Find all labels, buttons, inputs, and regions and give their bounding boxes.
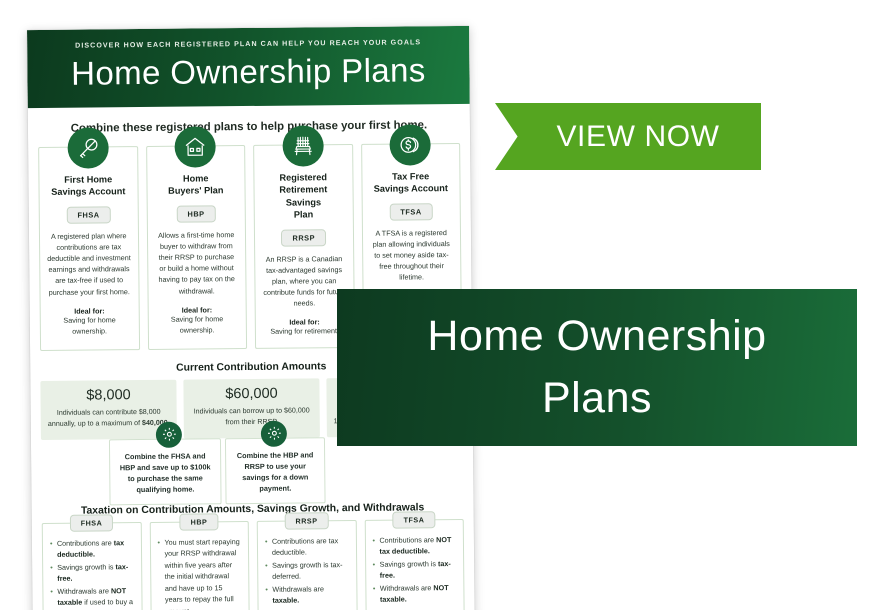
plan-description: A TFSA is a registered plan allowing ind… (369, 227, 453, 284)
plan-name: Registered Retirement Savings Plan (261, 171, 345, 221)
combine-tip-hbp-rrsp[interactable]: Combine the HBP and RRSP to use your sav… (225, 437, 326, 504)
plan-badge-fhsa: FHSA (66, 206, 110, 223)
tax-list-item: You must start repaying your RRSP withdr… (157, 536, 241, 610)
view-now-label: VIEW NOW (536, 120, 719, 154)
tax-list: Contributions are NOT tax deductible.Sav… (372, 534, 456, 606)
tax-list-item: Withdrawals are taxable. (265, 583, 349, 607)
plan-ideal-value: Saving for home ownership. (48, 315, 132, 337)
plan-badge-rrsp: RRSP (281, 229, 326, 246)
tax-list-item: Withdrawals are NOT taxable. (373, 582, 457, 606)
tax-card-hbp[interactable]: HBP You must start repaying your RRSP wi… (149, 521, 250, 610)
tax-card-fhsa[interactable]: FHSA Contributions are tax deductible.Sa… (42, 522, 143, 610)
plan-badge-hbp: HBP (176, 205, 215, 222)
tax-card-rrsp[interactable]: RRSP Contributions are tax deductible.Sa… (257, 520, 358, 610)
tax-card-tfsa[interactable]: TFSA Contributions are NOT tax deductibl… (364, 518, 465, 610)
tax-list-item: Savings growth is tax-free. (373, 558, 457, 582)
taxation-cards-row: FHSA Contributions are tax deductible.Sa… (32, 518, 475, 610)
plan-badge-tfsa: TFSA (389, 203, 432, 220)
amount-description: Individuals can contribute $8,000 annual… (47, 407, 171, 429)
combine-tip-fhsa-hbp[interactable]: Combine the FHSA and HBP and save up to … (109, 438, 222, 505)
overlay-title-panel: Home Ownership Plans (337, 289, 857, 446)
view-now-button[interactable]: VIEW NOW (495, 103, 761, 170)
tax-list-item: Savings growth is tax-free. (50, 561, 134, 585)
plan-ideal-value: Saving for retirement. (263, 327, 347, 339)
tax-list: You must start repaying your RRSP withdr… (157, 536, 242, 610)
house-icon (175, 126, 216, 167)
gear-icon (261, 420, 287, 446)
tax-badge-fhsa: FHSA (70, 514, 114, 531)
plan-description: An RRSP is a Canadian tax-advantaged sav… (262, 253, 346, 310)
amount-value: $8,000 (46, 387, 170, 404)
document-header: DISCOVER HOW EACH REGISTERED PLAN CAN HE… (27, 26, 470, 108)
tax-list-item: Withdrawals are NOT taxable if used to b… (50, 585, 134, 610)
plan-name: Tax Free Savings Account (369, 170, 453, 196)
amount-value: $60,000 (189, 386, 313, 403)
screenshot-stage: DISCOVER HOW EACH REGISTERED PLAN CAN HE… (0, 0, 893, 610)
tax-list: Contributions are tax deductible.Savings… (50, 537, 134, 610)
tax-badge-tfsa: TFSA (393, 511, 436, 528)
tax-badge-hbp: HBP (180, 513, 219, 530)
page-title: Home Ownership Plans (27, 47, 469, 96)
tax-list-item: Savings growth is tax-deferred. (265, 559, 349, 583)
plan-description: A registered plan where contributions ar… (47, 230, 131, 298)
dollar-coin-icon (390, 124, 431, 165)
plan-ideal-value: Saving for home ownership. (155, 314, 239, 336)
tax-list-item: Contributions are tax deductible. (50, 537, 134, 561)
tax-list-item: Contributions are tax deductible. (265, 535, 349, 559)
plan-card-hbp[interactable]: Home Buyers' Plan HBP Allows a first-tim… (146, 145, 247, 350)
tax-badge-rrsp: RRSP (284, 512, 328, 529)
tax-list-item: Contributions are NOT tax deductible. (372, 534, 456, 558)
key-icon (67, 127, 108, 168)
plan-name: First Home Savings Account (46, 173, 130, 199)
chair-icon (282, 125, 323, 166)
plan-description: Allows a first-time home buyer to withdr… (154, 229, 238, 297)
overlay-title: Home Ownership Plans (427, 306, 766, 428)
gear-icon (156, 421, 182, 447)
tax-list: Contributions are tax deductible.Savings… (265, 535, 349, 607)
amount-description: Individuals can borrow up to $60,000 fro… (190, 406, 314, 428)
plan-name: Home Buyers' Plan (154, 172, 238, 198)
plan-card-fhsa[interactable]: First Home Savings Account FHSA A regist… (38, 146, 139, 351)
